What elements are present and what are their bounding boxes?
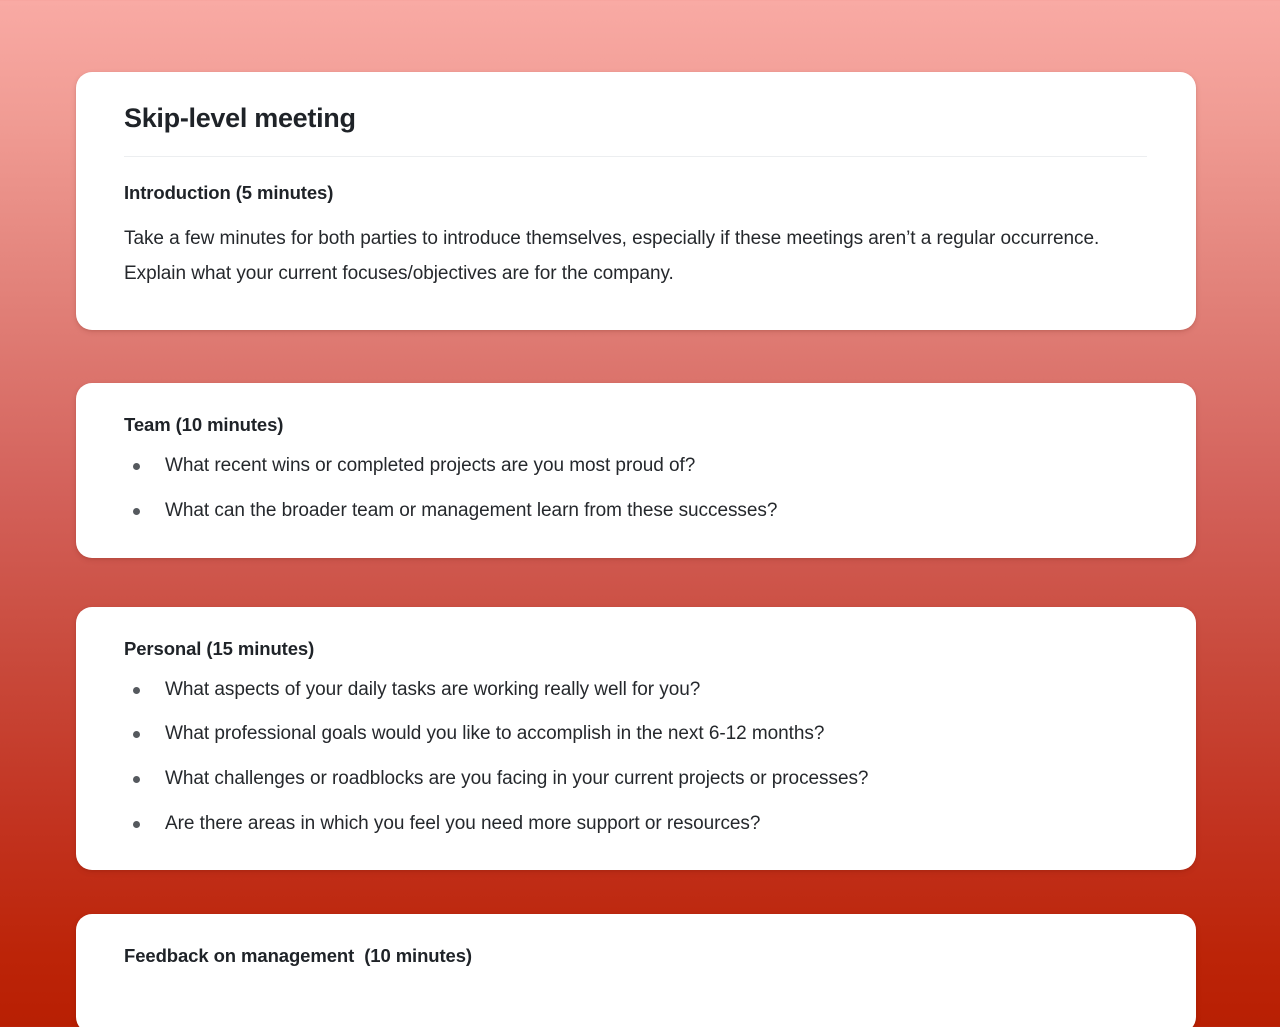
card-personal[interactable]: Personal (15 minutes) What aspects of yo… (76, 607, 1196, 871)
bullet-dot-icon (133, 687, 140, 694)
section-heading-introduction: Introduction (5 minutes) (124, 181, 1148, 206)
card-gap (76, 870, 1196, 914)
page-title: Skip-level meeting (124, 102, 1148, 156)
list-item: What professional goals would you like t… (124, 722, 1148, 747)
section-paragraph-introduction: Take a few minutes for both parties to i… (124, 222, 1124, 292)
list-item-label: What professional goals would you like t… (165, 723, 824, 744)
bullet-dot-icon (133, 821, 140, 828)
list-item: What can the broader team or management … (124, 499, 1148, 524)
list-item-label: What aspects of your daily tasks are wor… (165, 679, 700, 700)
section-heading-personal: Personal (15 minutes) (124, 637, 1148, 662)
list-item-label: Are there areas in which you feel you ne… (165, 813, 760, 834)
bullet-dot-icon (133, 776, 140, 783)
list-item: What recent wins or completed projects a… (124, 454, 1148, 479)
list-item: Are there areas in which you feel you ne… (124, 812, 1148, 837)
card-gap (76, 330, 1196, 383)
list-item: What aspects of your daily tasks are wor… (124, 678, 1148, 703)
section-heading-team: Team (10 minutes) (124, 413, 1148, 438)
bullet-list-team: What recent wins or completed projects a… (124, 454, 1148, 523)
card-gap (76, 558, 1196, 607)
section-heading-feedback-on-management: Feedback on management (10 minutes) (124, 944, 1148, 969)
card-team[interactable]: Team (10 minutes) What recent wins or co… (76, 383, 1196, 557)
bullet-list-personal: What aspects of your daily tasks are wor… (124, 678, 1148, 837)
card-introduction[interactable]: Skip-level meeting Introduction (5 minut… (76, 72, 1196, 330)
list-item: What challenges or roadblocks are you fa… (124, 767, 1148, 792)
document-body: Skip-level meeting Introduction (5 minut… (76, 72, 1196, 1027)
list-item-label: What challenges or roadblocks are you fa… (165, 768, 868, 789)
bullet-dot-icon (133, 508, 140, 515)
card-feedback-on-management[interactable]: Feedback on management (10 minutes) (76, 914, 1196, 1027)
bullet-dot-icon (133, 463, 140, 470)
list-item-label: What can the broader team or management … (165, 500, 777, 521)
list-item-label: What recent wins or completed projects a… (165, 455, 695, 476)
bullet-dot-icon (133, 731, 140, 738)
title-divider (124, 156, 1147, 157)
